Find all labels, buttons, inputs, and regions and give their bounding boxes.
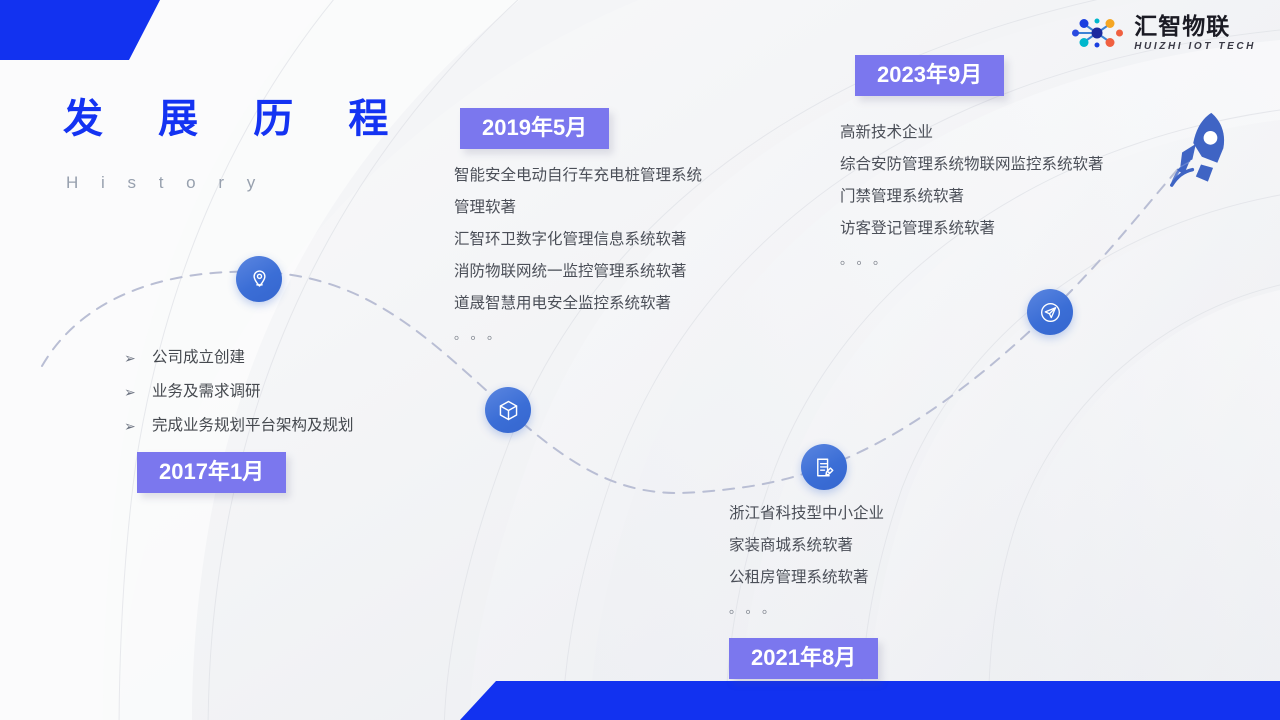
milestone-node-2017[interactable]	[236, 256, 282, 302]
date-badge-2021: 2021年8月	[729, 638, 878, 679]
bullet-arrow-icon: ➢	[124, 409, 152, 443]
location-pin-icon	[248, 268, 271, 291]
list-item-label: 高新技术企业	[840, 117, 1104, 149]
milestone-text-2021: 浙江省科技型中小企业 家装商城系统软著 公租房管理系统软著 。。。	[729, 498, 884, 624]
molecule-logo-icon	[1069, 13, 1125, 53]
logo-name-en: HUIZHI IOT TECH	[1134, 42, 1256, 52]
list-item-label: 完成业务规划平台架构及规划	[152, 409, 354, 443]
list-item-label: 消防物联网统一监控管理系统软著	[454, 256, 702, 288]
top-left-accent-bar	[0, 0, 160, 60]
date-badge-2017: 2017年1月	[137, 452, 286, 493]
list-item-label: 业务及需求调研	[152, 375, 261, 409]
bullet-arrow-icon: ➢	[124, 375, 152, 409]
list-item-label: 综合安防管理系统物联网监控系统软著	[840, 149, 1104, 181]
company-logo: 汇智物联 HUIZHI IOT TECH	[1069, 13, 1256, 53]
bottom-accent-bar	[460, 681, 1280, 720]
date-badge-2019: 2019年5月	[460, 108, 609, 149]
list-item-label: 智能安全电动自行车充电桩管理系统	[454, 160, 702, 192]
ellipsis-dots: 。。。	[840, 245, 1104, 275]
list-item-label: 公司成立创建	[152, 341, 245, 375]
list-item-label: 家装商城系统软著	[729, 530, 884, 562]
logo-name-cn: 汇智物联	[1134, 15, 1256, 38]
date-badge-2023: 2023年9月	[855, 55, 1004, 96]
document-edit-icon	[813, 456, 836, 479]
milestone-text-2023: 高新技术企业 综合安防管理系统物联网监控系统软著 门禁管理系统软著 访客登记管理…	[840, 117, 1104, 275]
rocket-icon	[1158, 106, 1244, 192]
paper-plane-icon	[1039, 301, 1062, 324]
list-item: ➢ 业务及需求调研	[124, 375, 354, 409]
list-item-label: 浙江省科技型中小企业	[729, 498, 884, 530]
milestone-text-2017: ➢ 公司成立创建 ➢ 业务及需求调研 ➢ 完成业务规划平台架构及规划	[124, 341, 354, 443]
milestone-node-2023[interactable]	[1027, 289, 1073, 335]
list-item-label: 门禁管理系统软著	[840, 181, 1104, 213]
bullet-arrow-icon: ➢	[124, 341, 152, 375]
ellipsis-dots: 。。。	[729, 594, 884, 624]
list-item-label: 管理软著	[454, 192, 702, 224]
list-item-label: 访客登记管理系统软著	[840, 213, 1104, 245]
list-item-label: 道晟智慧用电安全监控系统软著	[454, 288, 702, 320]
ellipsis-dots: 。。。	[454, 320, 702, 350]
milestone-text-2019: 智能安全电动自行车充电桩管理系统 管理软著 汇智环卫数字化管理信息系统软著 消防…	[454, 160, 702, 350]
list-item: ➢ 完成业务规划平台架构及规划	[124, 409, 354, 443]
list-item: ➢ 公司成立创建	[124, 341, 354, 375]
list-item-label: 汇智环卫数字化管理信息系统软著	[454, 224, 702, 256]
milestone-node-2019[interactable]	[485, 387, 531, 433]
page-subtitle: H i s t o r y	[66, 173, 264, 193]
list-item-label: 公租房管理系统软著	[729, 562, 884, 594]
milestone-node-2021[interactable]	[801, 444, 847, 490]
page-title: 发 展 历 程	[63, 99, 410, 139]
cube-icon	[497, 399, 520, 422]
slide-canvas: 发 展 历 程 H i s t o r y 汇智物联 HUIZHI IOT TE…	[0, 0, 1280, 720]
